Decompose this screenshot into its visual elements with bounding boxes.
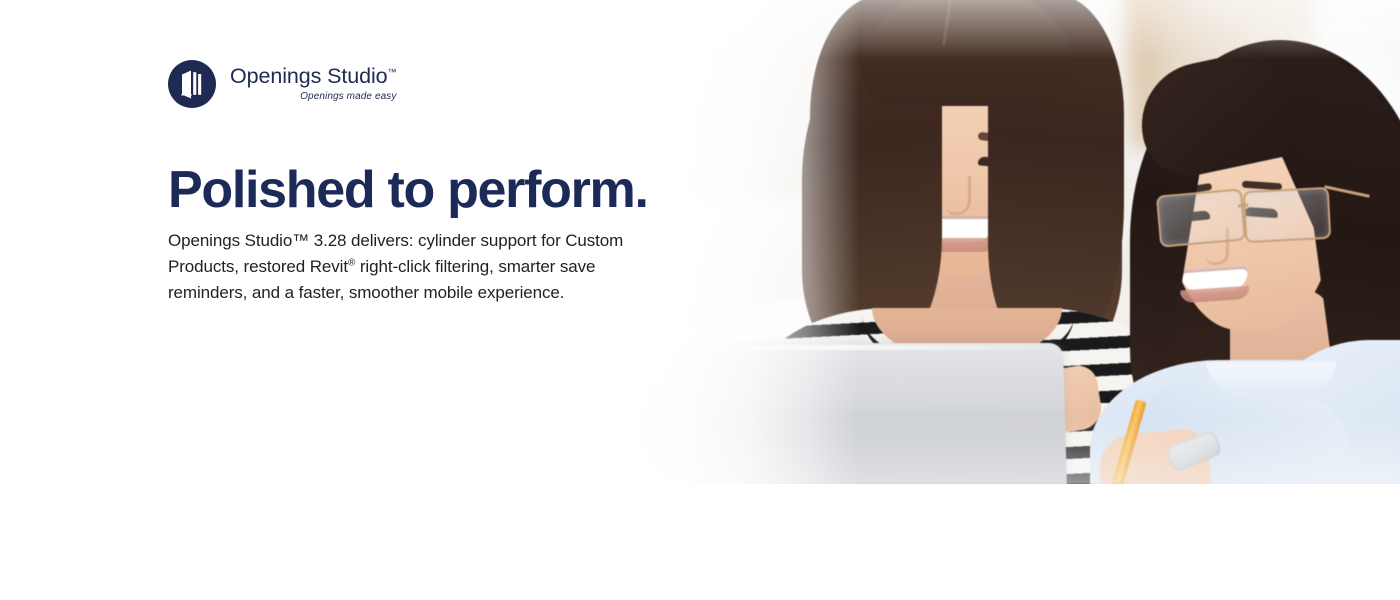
- hero-content: Openings Studio™ Openings made easy Poli…: [168, 60, 688, 108]
- description-line-2-a: restored Revit: [244, 257, 348, 276]
- eyeglasses: [1148, 192, 1358, 252]
- brand-trademark: ™: [387, 67, 396, 77]
- woman-with-glasses: [1110, 40, 1400, 484]
- brand-logo[interactable]: Openings Studio™ Openings made easy: [168, 60, 688, 108]
- hero-description: Openings Studio™ 3.28 delivers: cylinder…: [168, 228, 668, 305]
- brand-name: Openings Studio™: [230, 66, 396, 88]
- description-line-3: faster, smoother mobile experience.: [299, 283, 565, 302]
- brand-tagline: Openings made easy: [230, 92, 396, 102]
- openings-studio-door-logo-icon: [168, 60, 216, 108]
- laptop: [623, 343, 1067, 484]
- hero-banner: Openings Studio™ Openings made easy Poli…: [0, 0, 1400, 600]
- page-title: Polished to perform.: [168, 163, 648, 218]
